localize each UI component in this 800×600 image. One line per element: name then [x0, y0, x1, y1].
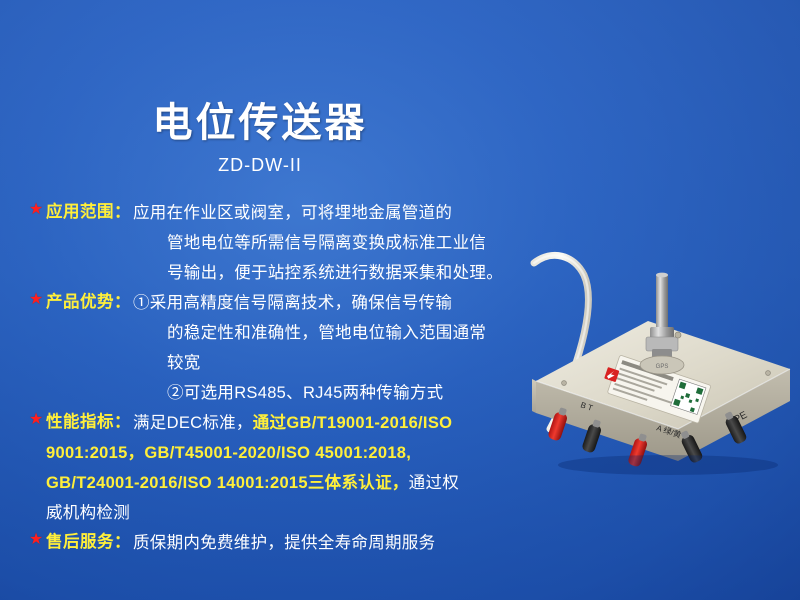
performance-highlight-3: GB/T24001-2016/ISO 14001:2015三体系认证，: [46, 474, 409, 492]
bullet-text-line: 管地电位等所需信号隔离变换成标准工业信: [46, 228, 588, 258]
bullet-text-line: 质保期内免费维护，提供全寿命周期服务: [133, 528, 435, 558]
device-illustration: GPS B T A 绿/黄 PE: [528, 215, 796, 475]
model-subtitle: ZD-DW-II: [0, 155, 520, 176]
bullet-row: 性能指标： 满足DEC标准，通过GB/T19001-2016/ISO: [46, 408, 588, 438]
bullet-performance-indicators: ★ 性能指标： 满足DEC标准，通过GB/T19001-2016/ISO 900…: [28, 408, 588, 528]
bullet-application-scope: ★ 应用范围： 应用在作业区或阀室，可将埋地金属管道的 管地电位等所需信号隔离变…: [28, 198, 588, 288]
bullet-text-line: 满足DEC标准，通过GB/T19001-2016/ISO: [133, 408, 452, 438]
svg-text:GPS: GPS: [656, 364, 669, 370]
bullet-text-line: 的稳定性和准确性，管地电位输入范围通常: [46, 318, 588, 348]
screw-icon: [766, 371, 771, 376]
star-icon: ★: [28, 202, 44, 218]
bullet-row: 售后服务： 质保期内免费维护，提供全寿命周期服务: [46, 528, 588, 558]
bullet-text-line: 应用在作业区或阀室，可将埋地金属管道的: [133, 198, 452, 228]
performance-plain-1: 满足DEC标准，: [133, 414, 253, 432]
bullet-text-line: 较宽: [46, 348, 588, 378]
performance-highlight-2: 9001:2015，GB/T45001-2020/ISO 45001:2018,: [46, 444, 411, 462]
performance-plain-3: 通过权: [409, 474, 459, 492]
bullet-label-advantages: 产品优势：: [46, 288, 133, 312]
device-image: GPS B T A 绿/黄 PE: [528, 215, 796, 475]
page-title: 电位传送器: [0, 90, 520, 148]
screw-icon: [562, 381, 567, 386]
bullet-label-performance: 性能指标：: [46, 408, 133, 432]
screw-icon: [675, 332, 681, 338]
bullet-text-line: ②可选用RS485、RJ45两种传输方式: [46, 378, 588, 408]
bullet-text-line: 号输出，便于站控系统进行数据采集和处理。: [46, 258, 588, 288]
bullet-label-service: 售后服务：: [46, 528, 133, 552]
product-photo: GPS B T A 绿/黄 PE: [520, 0, 800, 600]
bullet-text-line: 威机构检测: [46, 498, 588, 528]
performance-highlight-1: 通过GB/T19001-2016/ISO: [253, 414, 453, 432]
bullet-list: ★ 应用范围： 应用在作业区或阀室，可将埋地金属管道的 管地电位等所需信号隔离变…: [28, 198, 588, 558]
bullet-text-line: ①采用高精度信号隔离技术，确保信号传输: [133, 288, 452, 318]
slide-root: 电位传送器 ZD-DW-II ★ 应用范围： 应用在作业区或阀室，可将埋地金属管…: [0, 0, 800, 600]
bullet-text-line: GB/T24001-2016/ISO 14001:2015三体系认证，通过权: [46, 468, 588, 498]
bullet-row: 应用范围： 应用在作业区或阀室，可将埋地金属管道的: [46, 198, 588, 228]
bullet-text-line: 9001:2015，GB/T45001-2020/ISO 45001:2018,: [46, 438, 588, 468]
star-icon: ★: [28, 412, 44, 428]
bullet-after-sales-service: ★ 售后服务： 质保期内免费维护，提供全寿命周期服务: [28, 528, 588, 558]
bullet-label-application: 应用范围：: [46, 198, 133, 222]
star-icon: ★: [28, 292, 44, 308]
star-icon: ★: [28, 532, 44, 548]
bullet-row: 产品优势： ①采用高精度信号隔离技术，确保信号传输: [46, 288, 588, 318]
bullet-product-advantages: ★ 产品优势： ①采用高精度信号隔离技术，确保信号传输 的稳定性和准确性，管地电…: [28, 288, 588, 408]
